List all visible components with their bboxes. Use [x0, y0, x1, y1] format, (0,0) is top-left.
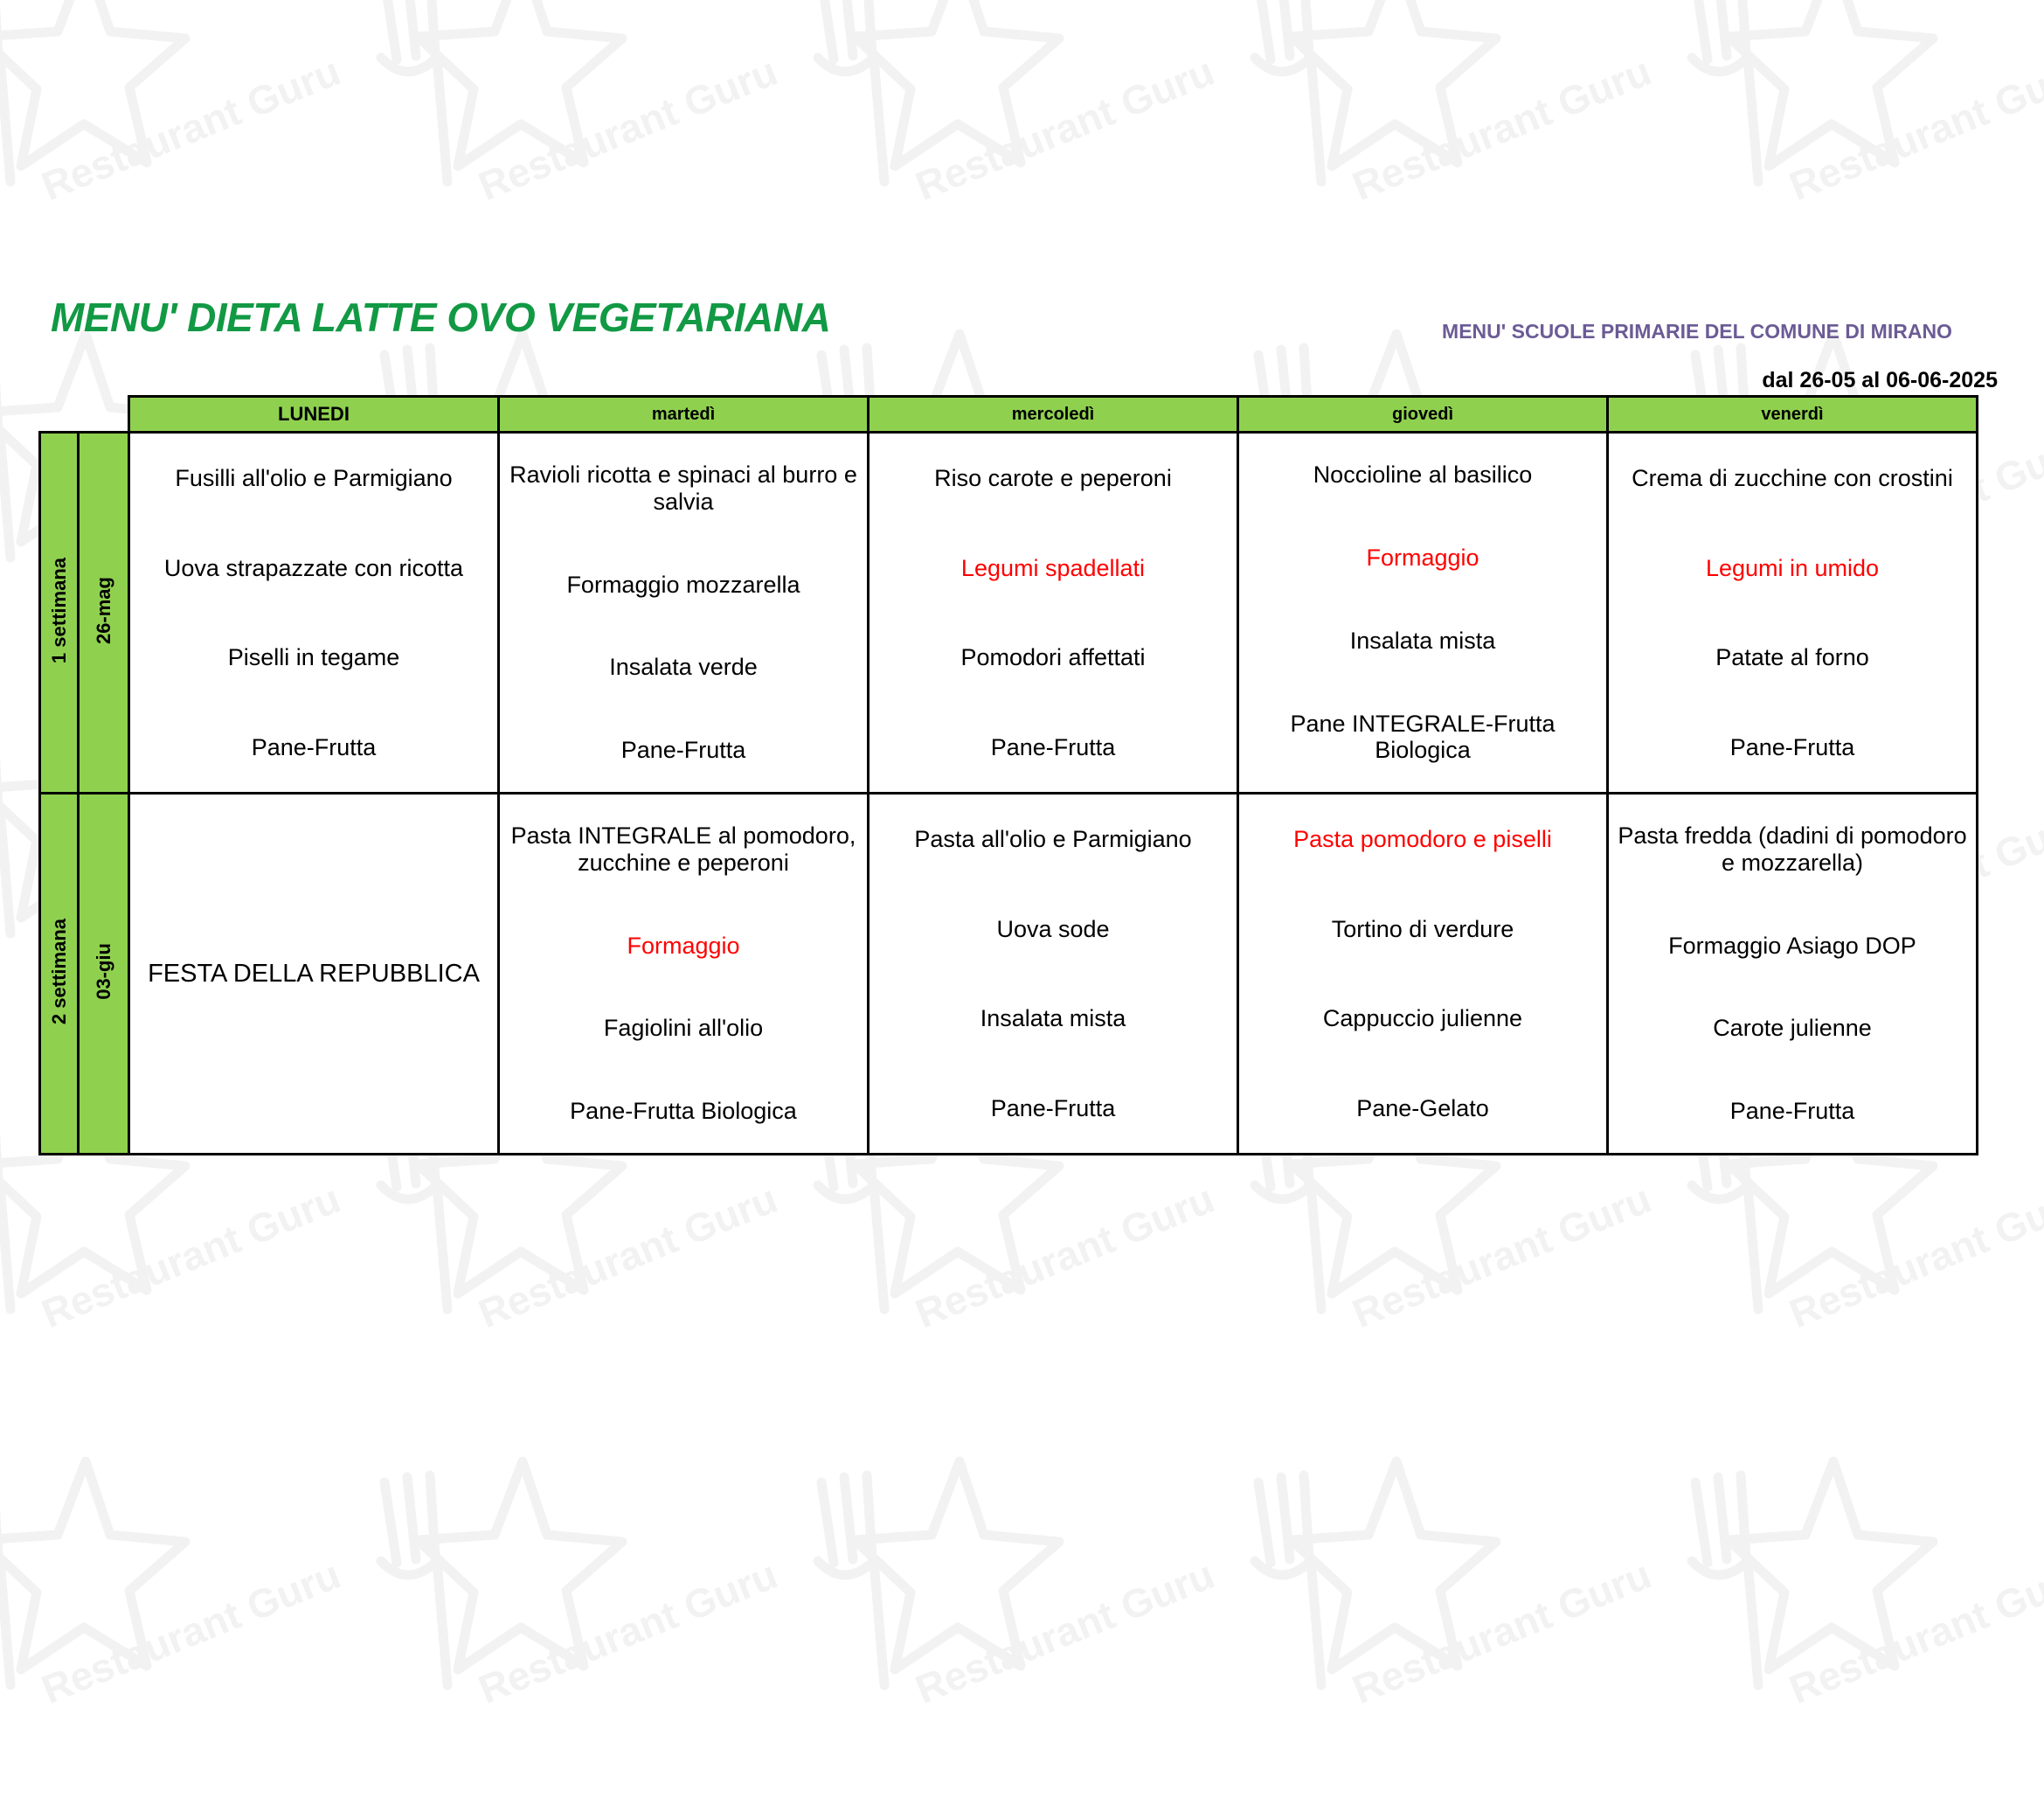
menu-cell-w2-d3: Pasta all'olio e ParmigianoUova sodeInsa… [869, 794, 1238, 1155]
watermark-text: Restaurant Guru [909, 1175, 1221, 1337]
dish-item: Patate al forno [1609, 642, 1976, 672]
dish-item: Pane-Frutta Biologica [500, 1096, 867, 1126]
watermark-text: Restaurant Guru [1346, 1551, 1658, 1713]
menu-cell-w1-d2: Ravioli ricotta e spinaci al burro e sal… [499, 433, 869, 794]
dish-item: Legumi spadellati [870, 553, 1237, 583]
dish-item: Formaggio mozzarella [500, 570, 867, 600]
menu-cell-w2-d2: Pasta INTEGRALE al pomodoro, zucchine e … [499, 794, 869, 1155]
dish-item: Uova strapazzate con ricotta [130, 553, 497, 583]
watermark-text: Restaurant Guru [472, 1175, 784, 1337]
table-header-row: LUNEDI martedì mercoledì giovedì venerdì [40, 397, 1978, 433]
menu-cell-w2-d1: FESTA DELLA REPUBBLICA [129, 794, 499, 1155]
day-header-mercoledi: mercoledì [869, 397, 1238, 433]
menu-cell-w2-d5: Pasta fredda (dadini di pomodoro e mozza… [1608, 794, 1978, 1155]
watermark-text: Restaurant Guru [35, 47, 347, 210]
watermark-text: Restaurant Guru [35, 1175, 347, 1337]
watermark-tile: Restaurant Guru [367, 1451, 786, 1818]
dish-item: Pane-Frutta [1609, 1096, 1976, 1126]
menu-cell-w1-d5: Crema di zucchine con crostiniLegumi in … [1608, 433, 1978, 794]
watermark-tile: Restaurant Guru [804, 1451, 1223, 1818]
page-title: MENU' DIETA LATTE OVO VEGETARIANA [51, 294, 830, 341]
week-date-label: 26-mag [93, 577, 115, 644]
watermark-tile: Restaurant Guru [1241, 1451, 1660, 1818]
dish-item: Pane-Frutta [500, 735, 867, 765]
dish-item: Formaggio [1239, 543, 1606, 572]
dish-item: Tortino di verdure [1239, 914, 1606, 944]
week-row: 2 settimana03-giuFESTA DELLA REPUBBLICAP… [40, 794, 1978, 1155]
day-header-martedi: martedì [499, 397, 869, 433]
week-label: 1 settimana [48, 558, 71, 663]
menu-cell-w2-d4: Pasta pomodoro e piselliTortino di verdu… [1238, 794, 1608, 1155]
day-header-giovedi: giovedì [1238, 397, 1608, 433]
dish-item: Pasta INTEGRALE al pomodoro, zucchine e … [500, 821, 867, 877]
date-range-label: dal 26-05 al 06-06-2025 [1396, 368, 1998, 393]
dish-list: Crema di zucchine con crostiniLegumi in … [1609, 434, 1976, 792]
watermark-text: Restaurant Guru [1346, 1175, 1658, 1337]
dish-item: Pane-Frutta [870, 1093, 1237, 1123]
menu-table-body: 1 settimana26-magFusilli all'olio e Parm… [40, 433, 1978, 1155]
day-header-lunedi: LUNEDI [129, 397, 499, 433]
dish-item: Ravioli ricotta e spinaci al burro e sal… [500, 460, 867, 516]
dish-list: FESTA DELLA REPUBBLICA [130, 795, 497, 1153]
week-date-label: 03-giu [93, 943, 115, 1000]
dish-list: Riso carote e peperoniLegumi spadellatiP… [870, 434, 1237, 792]
watermark-text: Restaurant Guru [909, 1551, 1221, 1713]
week-label-cell: 2 settimana [40, 794, 79, 1155]
watermark-text: Restaurant Guru [1783, 1175, 2044, 1337]
watermark-text: Restaurant Guru [35, 1551, 347, 1713]
watermark-text: Restaurant Guru [1346, 47, 1658, 210]
dish-item: Pasta all'olio e Parmigiano [870, 824, 1237, 854]
dish-item: Riso carote e peperoni [870, 463, 1237, 493]
dish-item: Pane-Frutta [870, 732, 1237, 762]
dish-list: Ravioli ricotta e spinaci al burro e sal… [500, 434, 867, 792]
dish-list: Pasta fredda (dadini di pomodoro e mozza… [1609, 795, 1976, 1153]
dish-item: Pane-Frutta [1609, 732, 1976, 762]
week-date-cell: 03-giu [79, 794, 129, 1155]
dish-item: Noccioline al basilico [1239, 460, 1606, 489]
watermark-tile: Restaurant Guru [0, 1451, 350, 1818]
dish-item: Legumi in umido [1609, 553, 1976, 583]
corner-spacer [40, 397, 79, 433]
dish-list: Fusilli all'olio e ParmigianoUova strapa… [130, 434, 497, 792]
dish-item: Pane-Frutta [130, 732, 497, 762]
dish-item: Pasta pomodoro e piselli [1239, 824, 1606, 854]
dish-item: Pane INTEGRALE-Frutta Biologica [1239, 709, 1606, 765]
watermark-text: Restaurant Guru [1783, 47, 2044, 210]
dish-item: Insalata verde [500, 652, 867, 682]
watermark-tile: Restaurant Guru [367, 0, 786, 315]
dish-item: Crema di zucchine con crostini [1609, 463, 1976, 493]
watermark-tile: Restaurant Guru [0, 0, 350, 315]
watermark-tile: Restaurant Guru [1241, 0, 1660, 315]
dish-list: Pasta all'olio e ParmigianoUova sodeInsa… [870, 795, 1237, 1153]
week-row: 1 settimana26-magFusilli all'olio e Parm… [40, 433, 1978, 794]
week-date-cell: 26-mag [79, 433, 129, 794]
dish-item: Fusilli all'olio e Parmigiano [130, 463, 497, 493]
dish-list: Noccioline al basilicoFormaggioInsalata … [1239, 434, 1606, 792]
menu-cell-w1-d3: Riso carote e peperoniLegumi spadellatiP… [869, 433, 1238, 794]
day-header-venerdi: venerdì [1608, 397, 1978, 433]
menu-cell-w1-d1: Fusilli all'olio e ParmigianoUova strapa… [129, 433, 499, 794]
dish-item: Cappuccio julienne [1239, 1003, 1606, 1033]
dish-item: Uova sode [870, 914, 1237, 944]
school-menu-subtitle: MENU' SCUOLE PRIMARIE DEL COMUNE DI MIRA… [1396, 320, 1998, 343]
dish-item: Piselli in tegame [130, 642, 497, 672]
dish-item: Insalata mista [1239, 626, 1606, 656]
watermark-text: Restaurant Guru [472, 1551, 784, 1713]
dish-item: Pasta fredda (dadini di pomodoro e mozza… [1609, 821, 1976, 877]
week-label: 2 settimana [48, 919, 71, 1024]
watermark-text: Restaurant Guru [1783, 1551, 2044, 1713]
menu-cell-w1-d4: Noccioline al basilicoFormaggioInsalata … [1238, 433, 1608, 794]
dish-item: Carote julienne [1609, 1013, 1976, 1043]
watermark-tile: Restaurant Guru [1678, 0, 2044, 315]
watermark-tile: Restaurant Guru [1678, 1451, 2044, 1818]
dish-item: Fagiolini all'olio [500, 1013, 867, 1043]
watermark-tile: Restaurant Guru [804, 0, 1223, 315]
dish-item: Formaggio Asiago DOP [1609, 931, 1976, 961]
watermark-text: Restaurant Guru [909, 47, 1221, 210]
holiday-label: FESTA DELLA REPUBBLICA [130, 958, 497, 989]
menu-table: LUNEDI martedì mercoledì giovedì venerdì… [38, 395, 1978, 1155]
corner-spacer [79, 397, 129, 433]
week-label-cell: 1 settimana [40, 433, 79, 794]
dish-item: Pomodori affettati [870, 642, 1237, 672]
dish-item: Formaggio [500, 931, 867, 961]
watermark-text: Restaurant Guru [472, 47, 784, 210]
dish-list: Pasta INTEGRALE al pomodoro, zucchine e … [500, 795, 867, 1153]
dish-item: Insalata mista [870, 1003, 1237, 1033]
dish-list: Pasta pomodoro e piselliTortino di verdu… [1239, 795, 1606, 1153]
dish-item: Pane-Gelato [1239, 1093, 1606, 1123]
